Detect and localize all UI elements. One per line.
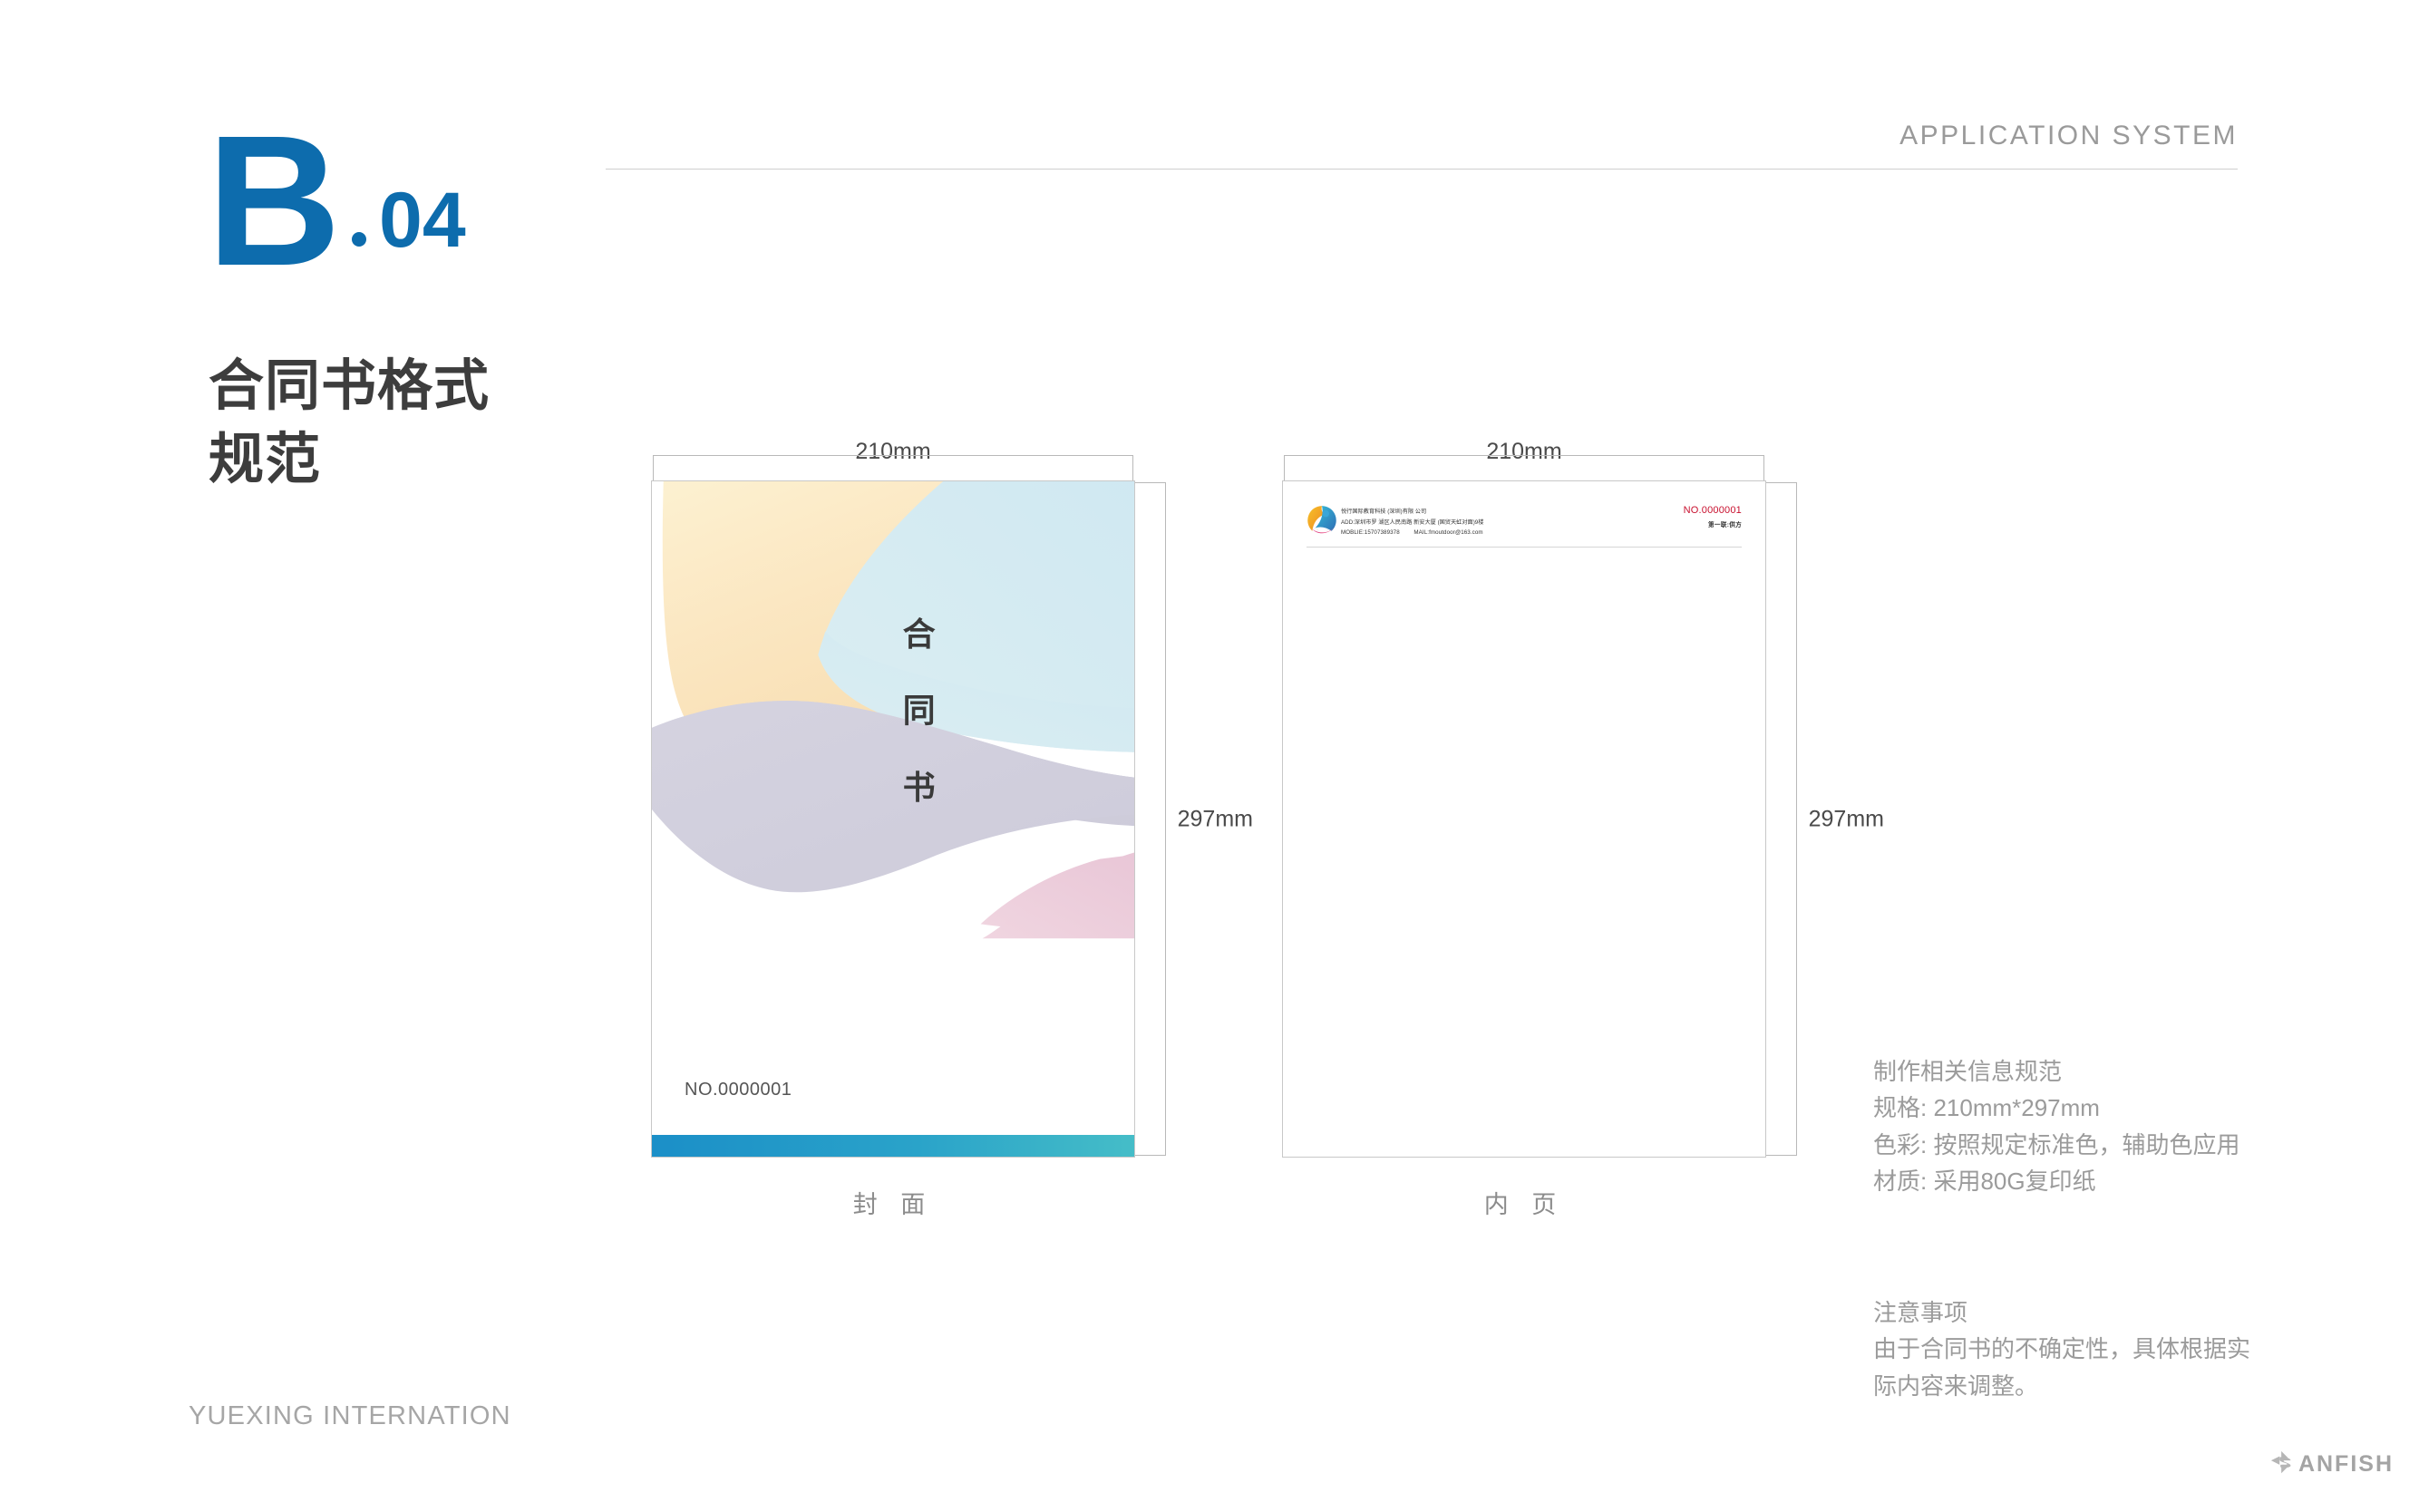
cover-caption: 封 面 (651, 1185, 1135, 1220)
company-mobile: MOBLIE:15707389378 (1341, 529, 1400, 536)
inner-caption: 内 页 (1282, 1185, 1766, 1220)
section-dot-separator (352, 232, 366, 247)
letterhead-company-info: 悦行国际教育科技 (深圳)有限 公司 ADD:深圳市罗 湖区人民南路 新安大厦 … (1341, 507, 1483, 538)
cover-title-char-3: 书 (903, 750, 937, 827)
cover-height-label: 297mm (1178, 806, 1253, 832)
company-mail: MAIL:fmoutdoor@163.com (1414, 529, 1482, 536)
inner-page-specimen: 210mm 297mm (1282, 480, 1766, 1158)
section-number: 04 (379, 181, 466, 259)
company-logo-icon (1307, 505, 1337, 540)
spec-color: 色彩: 按照规定标准色，辅助色应用 (1873, 1127, 2254, 1163)
header-title: APPLICATION SYSTEM (1899, 121, 2238, 151)
cover-width-bracket (653, 455, 1133, 480)
letterhead-identity: 悦行国际教育科技 (深圳)有限 公司 ADD:深圳市罗 湖区人民南路 新安大厦 … (1307, 505, 1483, 540)
cover-title-char-2: 同 (903, 673, 937, 750)
cover-height-bracket (1135, 482, 1166, 1156)
company-contact: MOBLIE:15707389378 MAIL:fmoutdoor@163.co… (1341, 528, 1483, 538)
inner-copy-label: 第一联:供方 (1684, 519, 1742, 528)
cover-specimen: 210mm 297mm (651, 480, 1135, 1158)
spec-size: 规格: 210mm*297mm (1873, 1090, 2254, 1126)
cover-title-char-1: 合 (903, 596, 937, 674)
cover-title-vertical: 合 同 书 (903, 596, 937, 827)
footer-brand: YUEXING INTERNATION (189, 1401, 511, 1431)
inner-serial-number: NO.0000001 (1684, 505, 1742, 517)
spec-material: 材质: 采用80G复印纸 (1873, 1163, 2254, 1199)
page-title: 合同书格式规范 (209, 349, 526, 496)
caution-body: 由于合同书的不确定性，具体根据实际内容来调整。 (1873, 1331, 2254, 1404)
inner-height-label: 297mm (1809, 806, 1884, 832)
letterhead-meta: NO.0000001 第一联:供方 (1684, 505, 1742, 528)
letterhead-top-row: 悦行国际教育科技 (深圳)有限 公司 ADD:深圳市罗 湖区人民南路 新安大厦 … (1307, 505, 1742, 540)
inner-width-bracket (1284, 455, 1764, 480)
letterhead-divider (1307, 547, 1742, 548)
caution-notes: 注意事项 由于合同书的不确定性，具体根据实际内容来调整。 (1873, 1294, 2254, 1404)
watermark-text: ANFISH (2298, 1451, 2394, 1478)
header-divider (606, 169, 2238, 170)
spec-notes: 制作相关信息规范 规格: 210mm*297mm 色彩: 按照规定标准色，辅助色… (1873, 1053, 2254, 1199)
inner-sheet: 悦行国际教育科技 (深圳)有限 公司 ADD:深圳市罗 湖区人民南路 新安大厦 … (1282, 480, 1766, 1158)
section-letter: B (207, 125, 339, 277)
fish-logo-icon (2269, 1449, 2297, 1480)
company-address: ADD:深圳市罗 湖区人民南路 新安大厦 (国贸天虹对面)9楼 (1341, 518, 1483, 528)
cover-sheet: 合 同 书 NO.0000001 (651, 480, 1135, 1158)
inner-height-bracket (1766, 482, 1797, 1156)
cover-footer-gradient-bar (652, 1135, 1134, 1157)
cover-serial-number: NO.0000001 (685, 1080, 792, 1100)
spec-title: 制作相关信息规范 (1873, 1053, 2254, 1090)
section-mark: B 04 (207, 125, 466, 277)
company-name: 悦行国际教育科技 (深圳)有限 公司 (1341, 507, 1483, 517)
letterhead: 悦行国际教育科技 (深圳)有限 公司 ADD:深圳市罗 湖区人民南路 新安大厦 … (1307, 505, 1742, 548)
cover-artwork (652, 481, 1134, 1022)
sanfish-watermark: ANFISH (2269, 1449, 2394, 1480)
caution-title: 注意事项 (1873, 1294, 2254, 1331)
